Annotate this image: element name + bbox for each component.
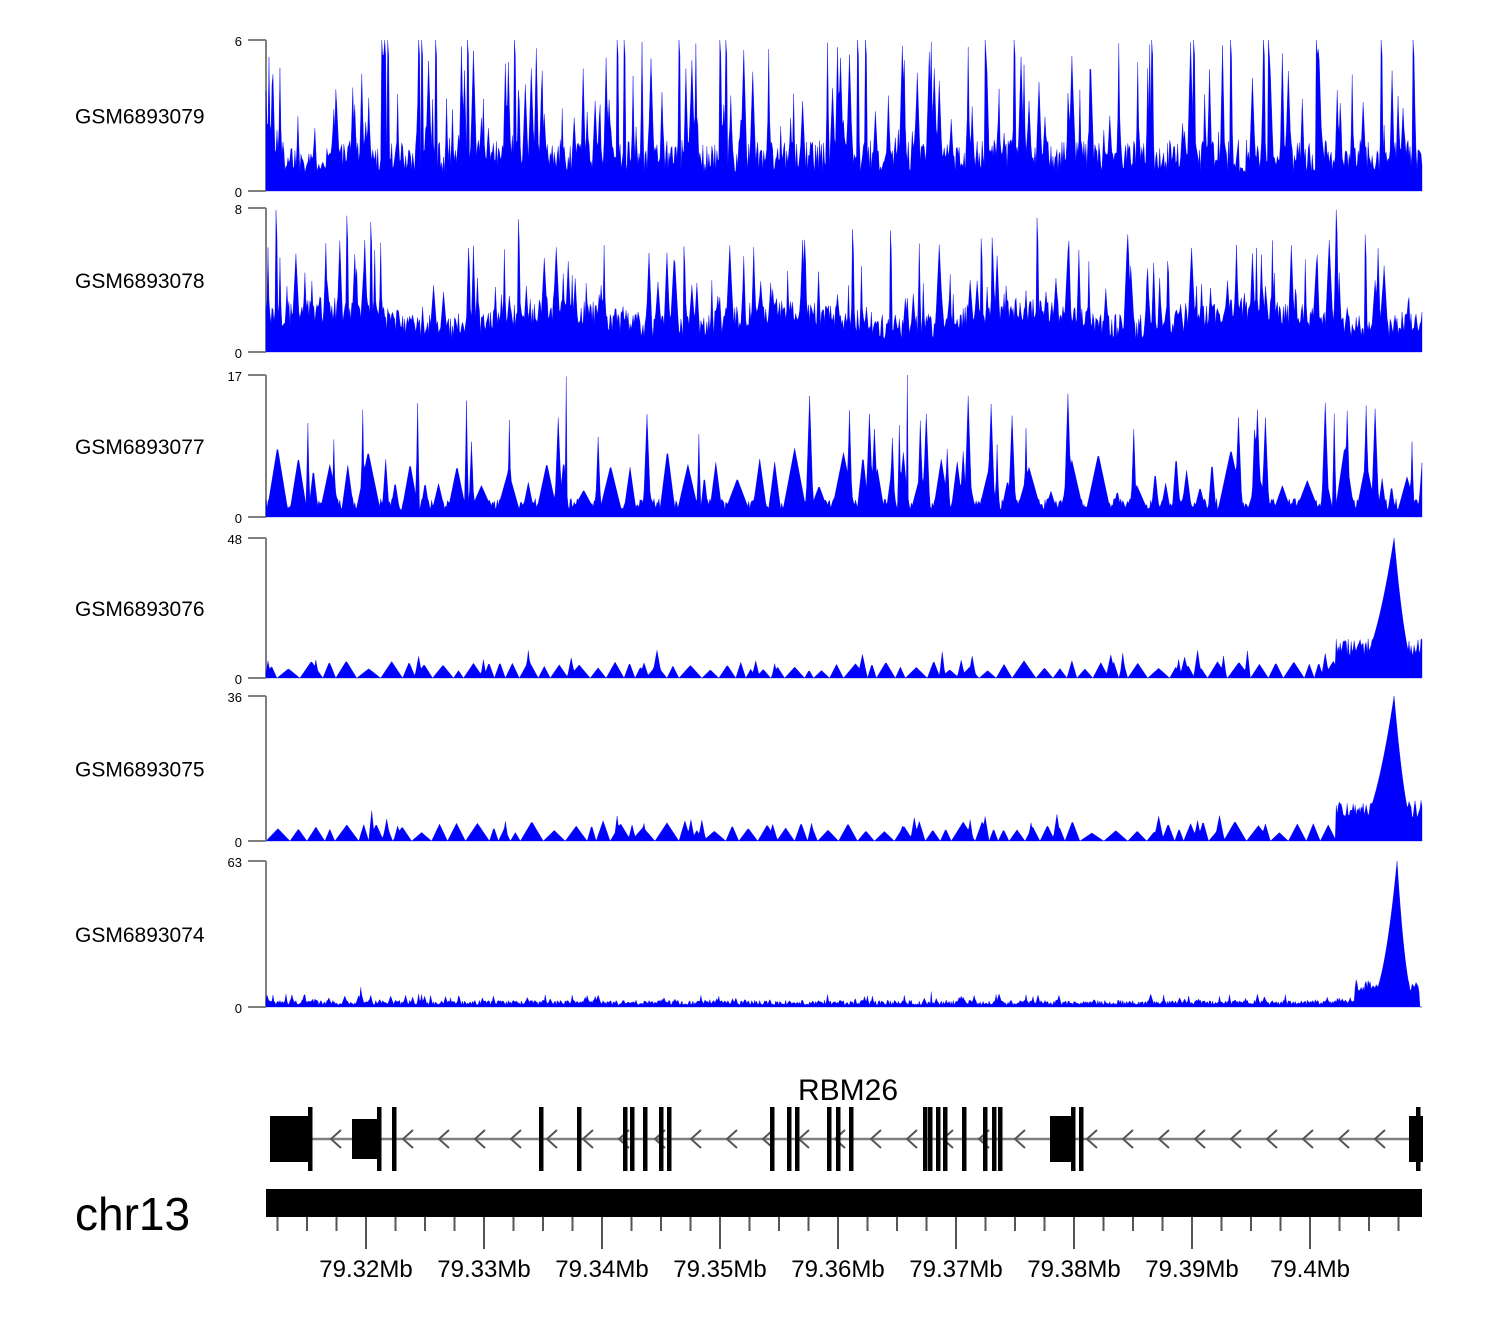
exon-thick (1409, 1116, 1423, 1162)
y-axis-min-label: 0 (235, 511, 242, 526)
exon-thin (923, 1107, 928, 1171)
y-axis-bracket (248, 40, 266, 191)
exon-thin (998, 1107, 1003, 1171)
exon-thin (770, 1107, 775, 1171)
exon-thin (659, 1107, 664, 1171)
axis-tick-label: 79.4Mb (1270, 1256, 1350, 1283)
track-label-GSM6893074: GSM6893074 (75, 924, 205, 947)
y-axis-max-label: 6 (235, 34, 242, 49)
coverage-track: GSM6893075360 (75, 690, 1422, 850)
exon-thin (936, 1107, 941, 1171)
y-axis-min-label: 0 (235, 185, 242, 200)
exon-thin (623, 1107, 628, 1171)
y-axis-min-label: 0 (235, 835, 242, 850)
exon-thin (849, 1107, 854, 1171)
axis-tick-label: 79.38Mb (1027, 1256, 1120, 1283)
axis-tick-label: 79.33Mb (437, 1256, 530, 1283)
exon-thin (392, 1107, 397, 1171)
y-axis-max-label: 63 (228, 855, 242, 870)
y-axis-max-label: 8 (235, 202, 242, 217)
y-axis-min-label: 0 (235, 346, 242, 361)
genome-browser: GSM689307960GSM689307880GSM6893077170GSM… (0, 0, 1500, 1320)
exon-thin (577, 1107, 582, 1171)
y-axis-bracket (248, 538, 266, 678)
exon-thick (352, 1119, 380, 1159)
track-label-GSM6893077: GSM6893077 (75, 436, 205, 459)
y-axis-bracket (248, 696, 266, 841)
exon-thin (943, 1107, 948, 1171)
y-axis-max-label: 48 (228, 532, 242, 547)
chromosome-axis: chr1379.32Mb79.33Mb79.34Mb79.35Mb79.36Mb… (75, 1188, 1422, 1283)
track-label-GSM6893079: GSM6893079 (75, 106, 205, 129)
y-axis-bracket (248, 861, 266, 1007)
chromosome-label: chr13 (75, 1188, 190, 1240)
coverage-area (266, 375, 1422, 517)
browser-canvas: GSM689307960GSM689307880GSM6893077170GSM… (0, 0, 1500, 1320)
coverage-area (266, 210, 1422, 352)
exon-thin (630, 1107, 635, 1171)
coverage-track: GSM6893077170 (75, 369, 1422, 526)
axis-tick-label: 79.35Mb (673, 1256, 766, 1283)
coverage-area (266, 538, 1422, 678)
axis-tick-label: 79.39Mb (1145, 1256, 1238, 1283)
exon-thin (795, 1107, 800, 1171)
gene-name-label: RBM26 (798, 1074, 898, 1107)
chromosome-bar (266, 1189, 1422, 1217)
exon-thin (992, 1107, 997, 1171)
axis-tick-label: 79.36Mb (791, 1256, 884, 1283)
exon-thin (983, 1107, 988, 1171)
exon-thin (962, 1107, 967, 1171)
track-label-GSM6893076: GSM6893076 (75, 598, 205, 621)
exon-thin (667, 1107, 672, 1171)
axis-tick-label: 79.37Mb (909, 1256, 1002, 1283)
exon-thin (787, 1107, 792, 1171)
track-label-GSM6893075: GSM6893075 (75, 759, 205, 782)
y-axis-bracket (248, 375, 266, 517)
coverage-track: GSM6893074630 (75, 855, 1422, 1016)
coverage-area (266, 861, 1422, 1007)
track-label-GSM6893078: GSM6893078 (75, 270, 205, 293)
y-axis-min-label: 0 (235, 1001, 242, 1016)
coverage-area (266, 696, 1422, 841)
axis-tick-label: 79.32Mb (319, 1256, 412, 1283)
exon-thin (928, 1107, 933, 1171)
exon-thin (836, 1107, 841, 1171)
y-axis-max-label: 36 (228, 690, 242, 705)
exon-thin (827, 1107, 832, 1171)
coverage-track: GSM689307880 (75, 202, 1422, 361)
exon-thick (270, 1116, 310, 1162)
coverage-area (266, 40, 1422, 191)
gene-model-track: RBM26 (270, 1074, 1423, 1171)
y-axis-min-label: 0 (235, 672, 242, 687)
coverage-track: GSM689307960 (75, 34, 1422, 200)
coverage-track: GSM6893076480 (75, 532, 1422, 687)
exon-thin (643, 1107, 648, 1171)
axis-tick-label: 79.34Mb (555, 1256, 648, 1283)
exon-thick (1050, 1116, 1072, 1162)
exon-thin (1079, 1107, 1084, 1171)
exon-thin (539, 1107, 544, 1171)
y-axis-max-label: 17 (228, 369, 242, 384)
y-axis-bracket (248, 208, 266, 352)
